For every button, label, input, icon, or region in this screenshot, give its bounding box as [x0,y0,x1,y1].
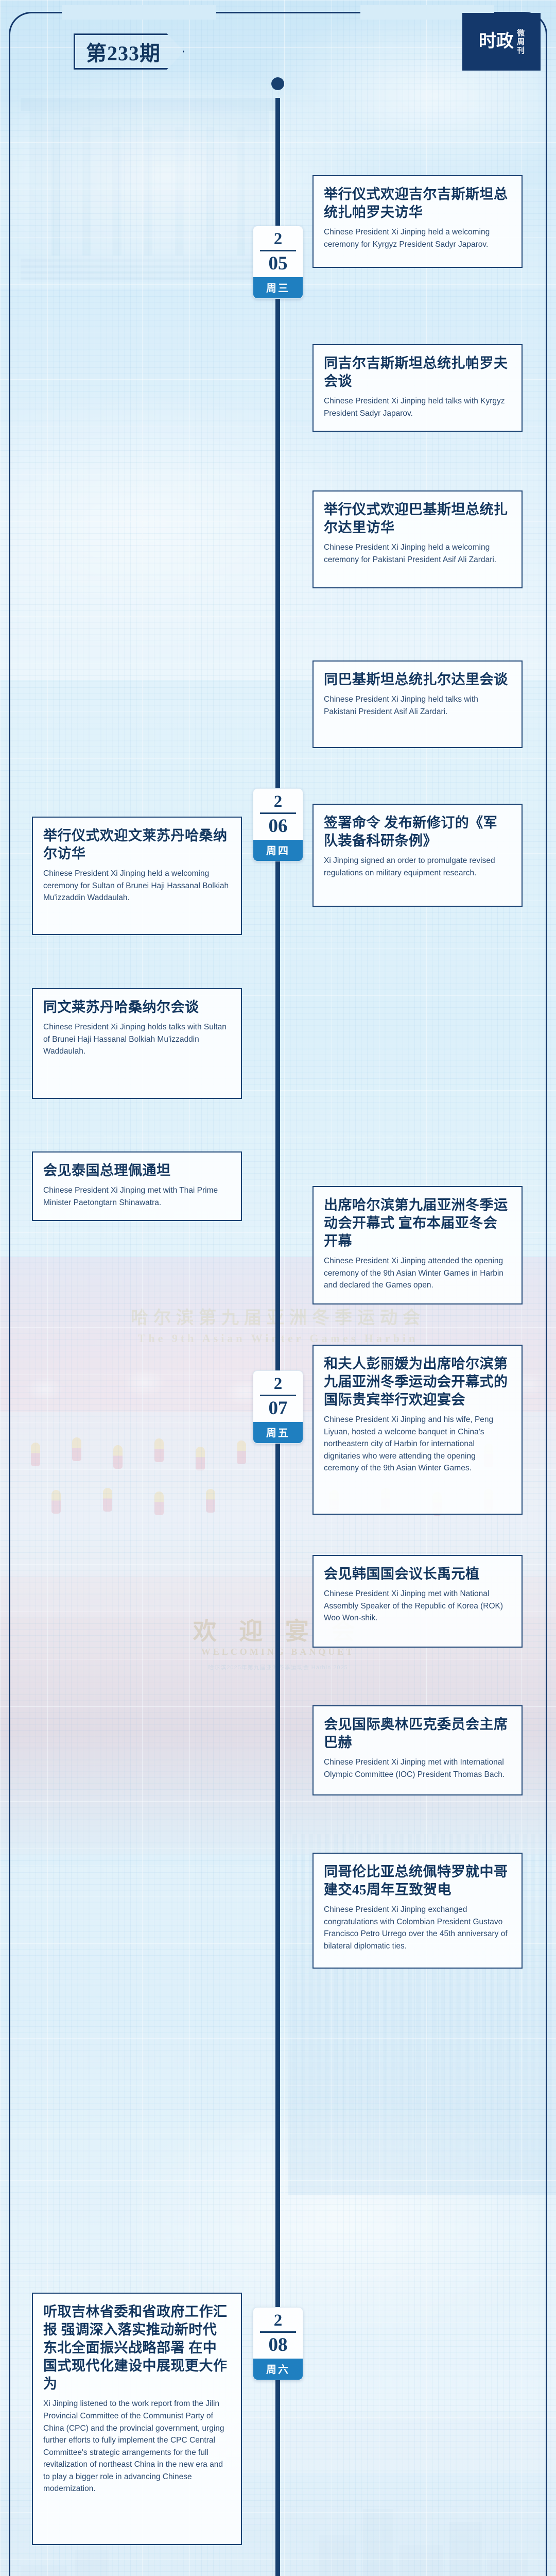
date-chip-day: 07 [253,1396,303,1422]
news-card-title-cn: 出席哈尔滨第九届亚洲冬季运动会开幕式 宣布本届亚冬会开幕 [324,1196,511,1250]
news-card-text-en: Chinese President Xi Jinping met with Na… [324,1588,511,1624]
logo-main-text: 时政 [479,33,514,50]
news-card-title-cn: 举行仪式欢迎巴基斯坦总统扎尔达里访华 [324,501,511,537]
great-hall-silhouette [21,77,278,294]
news-card-title-cn: 听取吉林省委和省政府工作汇报 强调深入落实推动新时代东北全面振兴战略部署 在中国… [43,2303,231,2393]
news-card[interactable]: 会见韩国国会议长禹元植 Chinese President Xi Jinping… [312,1555,523,1648]
news-card-title-cn: 同巴基斯坦总统扎尔达里会谈 [324,671,511,689]
news-card-text-en: Chinese President Xi Jinping exchanged c… [324,1904,511,1952]
news-card-text-en: Chinese President Xi Jinping holds talks… [43,1021,231,1058]
news-card-title-cn: 同哥伦比亚总统佩特罗就中哥建交45周年互致贺电 [324,1863,511,1899]
news-card[interactable]: 同哥伦比亚总统佩特罗就中哥建交45周年互致贺电 Chinese Presiden… [312,1853,523,1969]
logo-side-text: 微周刊 [516,29,524,55]
frame-notch-left [62,5,216,20]
news-card[interactable]: 和夫人彭丽媛为出席哈尔滨第九届亚洲冬季运动会开幕式的国际贵宾举行欢迎宴会 Chi… [312,1345,523,1515]
news-card-text-en: Chinese President Xi Jinping held a welc… [324,541,511,566]
news-card[interactable]: 同巴基斯坦总统扎尔达里会谈 Chinese President Xi Jinpi… [312,660,523,748]
issue-number-label: 第233期 [86,37,172,66]
date-chip-weekday: 周六 [253,2359,303,2380]
date-chip-day: 05 [253,251,303,277]
news-card[interactable]: 举行仪式欢迎文莱苏丹哈桑纳尔访华 Chinese President Xi Ji… [32,817,242,935]
date-chip-day: 08 [253,2333,303,2359]
date-chip-month: 2 [253,789,303,812]
news-card-title-cn: 和夫人彭丽媛为出席哈尔滨第九届亚洲冬季运动会开幕式的国际贵宾举行欢迎宴会 [324,1355,511,1409]
news-card[interactable]: 同文莱苏丹哈桑纳尔会谈 Chinese President Xi Jinping… [32,988,242,1099]
news-card-title-cn: 签署命令 发布新修订的《军队装备科研条例》 [324,814,511,850]
date-chip-month: 2 [253,226,303,250]
timeline-start-dot [271,77,284,90]
news-card-title-cn: 会见韩国国会议长禹元植 [324,1565,511,1583]
news-card-title-cn: 举行仪式欢迎文莱苏丹哈桑纳尔访华 [43,827,231,863]
news-card-text-en: Chinese President Xi Jinping held talks … [324,395,511,419]
news-card-text-en: Xi Jinping signed an order to promulgate… [324,855,511,879]
shizheng-weekly-logo: 时政 微周刊 [462,13,541,71]
news-card[interactable]: 签署命令 发布新修订的《军队装备科研条例》 Xi Jinping signed … [312,804,523,907]
news-card-title-cn: 会见泰国总理佩通坦 [43,1162,231,1180]
news-card[interactable]: 听取吉林省委和省政府工作汇报 强调深入落实推动新时代东北全面振兴战略部署 在中国… [32,2293,242,2545]
date-chip-month: 2 [253,1371,303,1395]
news-card-text-en: Chinese President Xi Jinping held a welc… [43,868,231,904]
news-card[interactable]: 会见泰国总理佩通坦 Chinese President Xi Jinping m… [32,1151,242,1221]
date-chip[interactable]: 2 06 周四 [253,788,303,861]
news-card-title-cn: 同吉尔吉斯斯坦总统扎帕罗夫会谈 [324,354,511,391]
issue-number-badge: 第233期 [74,33,184,70]
date-chip[interactable]: 2 05 周三 [253,226,303,299]
news-card-text-en: Chinese President Xi Jinping and his wif… [324,1414,511,1475]
news-card[interactable]: 举行仪式欢迎吉尔吉斯斯坦总统扎帕罗夫访华 Chinese President X… [312,175,523,268]
timeline-spine [275,98,280,2576]
date-chip-month: 2 [253,2308,303,2331]
news-card-text-en: Chinese President Xi Jinping held talks … [324,693,511,718]
date-chip[interactable]: 2 07 周五 [253,1370,303,1444]
news-card-text-en: Chinese President Xi Jinping met with In… [324,1756,511,1781]
news-card[interactable]: 出席哈尔滨第九届亚洲冬季运动会开幕式 宣布本届亚冬会开幕 Chinese Pre… [312,1186,523,1304]
news-card[interactable]: 同吉尔吉斯斯坦总统扎帕罗夫会谈 Chinese President Xi Jin… [312,344,523,432]
news-card-text-en: Chinese President Xi Jinping attended th… [324,1255,511,1292]
news-card-text-en: Chinese President Xi Jinping held a welc… [324,226,511,250]
news-card[interactable]: 会见国际奥林匹克委员会主席巴赫 Chinese President Xi Jin… [312,1705,523,1795]
news-card-title-cn: 同文莱苏丹哈桑纳尔会谈 [43,998,231,1016]
news-card-text-en: Xi Jinping listened to the work report f… [43,2398,231,2495]
date-chip-day: 06 [253,814,303,840]
date-chip-weekday: 周五 [253,1422,303,1443]
date-chip-weekday: 周三 [253,277,303,298]
news-card-title-cn: 举行仪式欢迎吉尔吉斯斯坦总统扎帕罗夫访华 [324,185,511,222]
date-chip-weekday: 周四 [253,840,303,861]
news-card[interactable]: 举行仪式欢迎巴基斯坦总统扎尔达里访华 Chinese President Xi … [312,490,523,588]
news-card-text-en: Chinese President Xi Jinping met with Th… [43,1184,231,1209]
date-chip[interactable]: 2 08 周六 [253,2307,303,2380]
news-card-title-cn: 会见国际奥林匹克委员会主席巴赫 [324,1716,511,1752]
poster-page: 哈尔滨第九届亚洲冬季运动会 The 9th Asian Winter Games… [0,0,556,2576]
